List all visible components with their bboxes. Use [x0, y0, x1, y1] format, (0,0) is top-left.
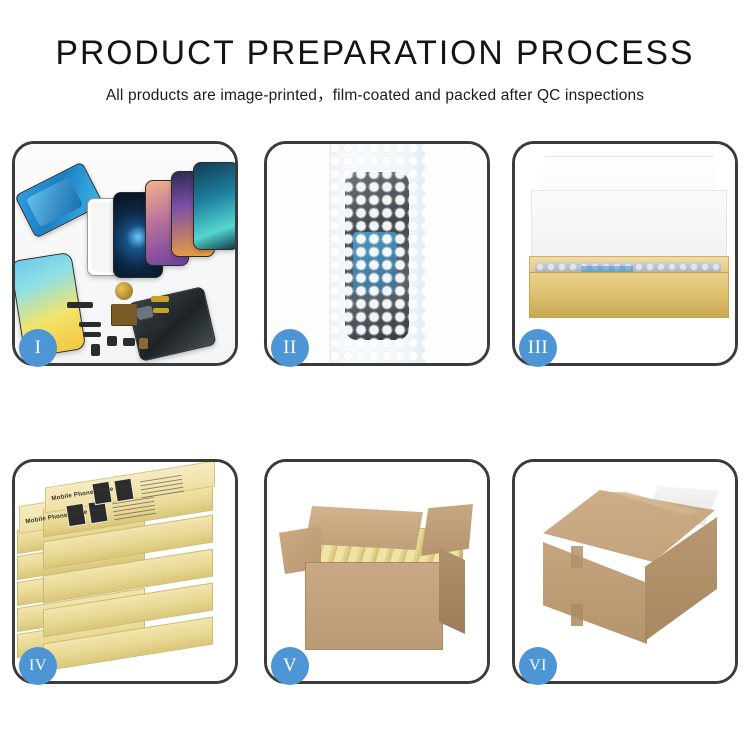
process-step-grid: I II [0, 0, 750, 750]
step-badge-5: V [271, 647, 309, 685]
stacked-boxes-illustration: Mobile Phone Spare Parts Mobile Phone Sp… [15, 462, 235, 681]
carton-flap-right [421, 504, 473, 556]
step-2-image [267, 144, 487, 363]
bubble-wrap-illustration [267, 144, 487, 363]
process-step-5: V [264, 459, 490, 684]
flex-cable-part [67, 302, 93, 308]
carton-front-face [305, 562, 443, 650]
gold-flex-part [153, 308, 169, 313]
carton-side-face [439, 548, 465, 634]
connector-part [139, 338, 148, 349]
step-badge-3: III [519, 329, 557, 367]
carton-front-face [543, 542, 647, 644]
sealed-carton-illustration [515, 462, 735, 681]
process-step-3: III [512, 141, 738, 366]
step-1-image [15, 144, 235, 363]
step-badge-1: I [19, 329, 57, 367]
chip-grid-part [111, 304, 137, 326]
inner-box-illustration [515, 144, 735, 363]
step-badge-2: II [271, 329, 309, 367]
phone-screen-teal [193, 162, 235, 250]
step-6-image [515, 462, 735, 681]
step-4-image: Mobile Phone Spare Parts Mobile Phone Sp… [15, 462, 235, 681]
bubble-highlight-layer [329, 144, 425, 363]
open-carton-illustration [267, 462, 487, 681]
process-step-2: II [264, 141, 490, 366]
button-part [123, 338, 135, 346]
kraft-box-body [529, 272, 729, 318]
sim-tray-part [91, 344, 100, 356]
step-badge-4: IV [19, 647, 57, 685]
speaker-part [115, 282, 133, 300]
small-cable-part [83, 332, 101, 337]
camera-module-part [107, 336, 117, 346]
small-cable-part [143, 322, 167, 328]
carton-seam [571, 546, 583, 568]
gold-flex-part [151, 296, 169, 302]
phones-and-parts-illustration [15, 144, 235, 363]
process-step-6: VI [512, 459, 738, 684]
process-step-4: Mobile Phone Spare Parts Mobile Phone Sp… [12, 459, 238, 684]
process-step-1: I [12, 141, 238, 366]
product-preparation-infographic: PRODUCT PREPARATION PROCESS All products… [0, 0, 750, 750]
carton-seam [571, 604, 583, 626]
spare-parts-cluster [67, 282, 197, 354]
small-cable-part [79, 322, 101, 327]
step-3-image [515, 144, 735, 363]
carton-flap-top [305, 506, 423, 550]
step-badge-6: VI [519, 647, 557, 685]
step-5-image [267, 462, 487, 681]
